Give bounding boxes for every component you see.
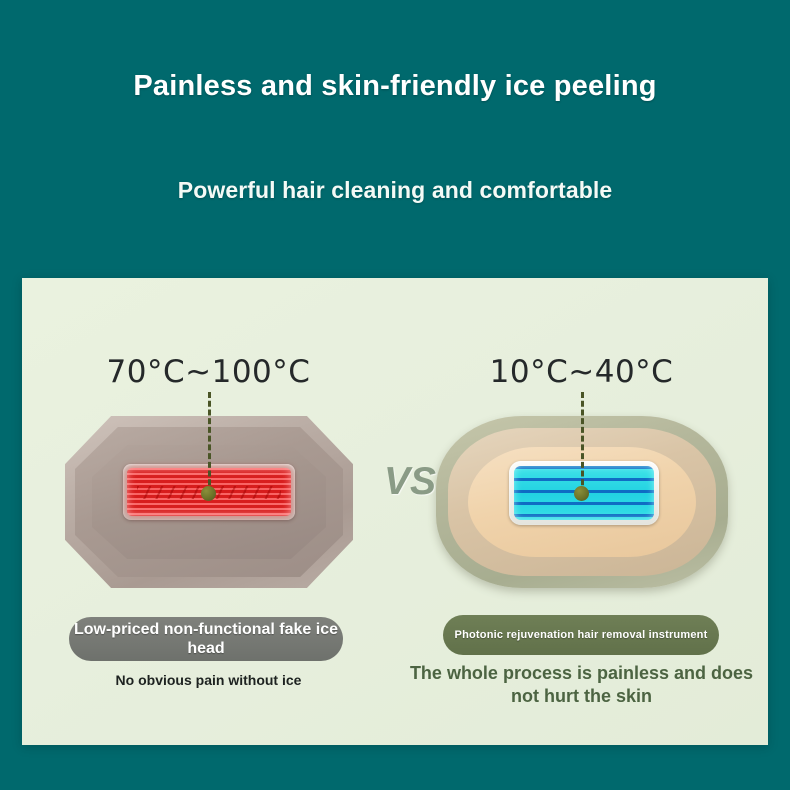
left-pointer-dashed-line (208, 392, 211, 494)
right-device-pill-label: Photonic rejuvenation hair removal instr… (443, 615, 719, 655)
comparison-panel: 70°C~100°C Low-priced non-functional fak… (22, 278, 768, 745)
left-pointer-dot-icon (201, 486, 216, 501)
left-temperature-label: 70°C~100°C (22, 354, 395, 390)
headline: Painless and skin-friendly ice peeling (0, 70, 790, 103)
comparison-right-column: 10°C~40°C Photonic rejuvenation hair rem… (395, 278, 768, 745)
right-sub-caption: The whole process is painless and does n… (395, 662, 768, 708)
comparison-left-column: 70°C~100°C Low-priced non-functional fak… (22, 278, 395, 745)
left-device-pill-label: Low-priced non-functional fake ice head (69, 617, 343, 661)
versus-label: VS (369, 460, 451, 504)
right-pointer-dot-icon (574, 486, 589, 501)
right-pointer-dashed-line (581, 392, 584, 494)
right-temperature-label: 10°C~40°C (395, 354, 768, 390)
subheadline: Powerful hair cleaning and comfortable (0, 177, 790, 204)
left-sub-caption: No obvious pain without ice (22, 672, 395, 688)
